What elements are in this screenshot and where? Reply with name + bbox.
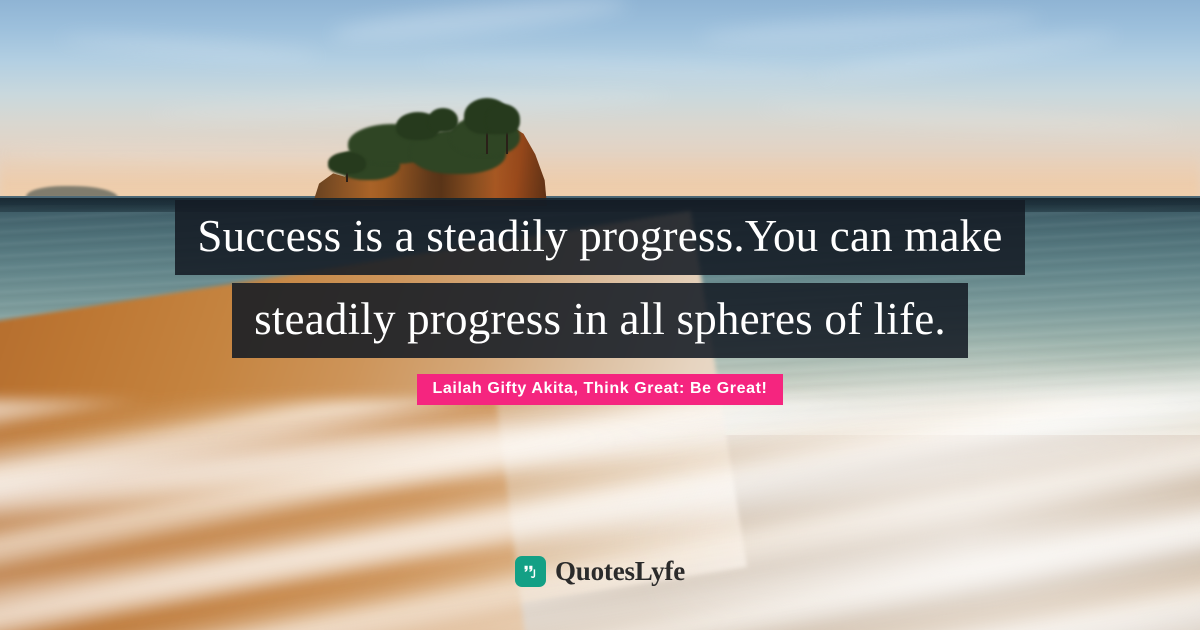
quote-line-1: Success is a steadily progress.You can m… [175,200,1024,275]
brand-logo[interactable]: QuotesLyfe [0,556,1200,587]
quote-image-canvas: Success is a steadily progress.You can m… [0,0,1200,630]
rock-island [300,96,570,206]
brand-name: QuotesLyfe [555,556,685,587]
quote-line-2: steadily progress in all spheres of life… [232,283,968,358]
island-tree [428,108,458,132]
attribution-badge: Lailah Gifty Akita, Think Great: Be Grea… [417,374,784,405]
island-tree [486,104,520,134]
quotation-mark-icon [515,556,546,587]
quote-block: Success is a steadily progress.You can m… [0,200,1200,358]
island-tree [328,152,366,174]
attribution-block: Lailah Gifty Akita, Think Great: Be Grea… [0,374,1200,405]
